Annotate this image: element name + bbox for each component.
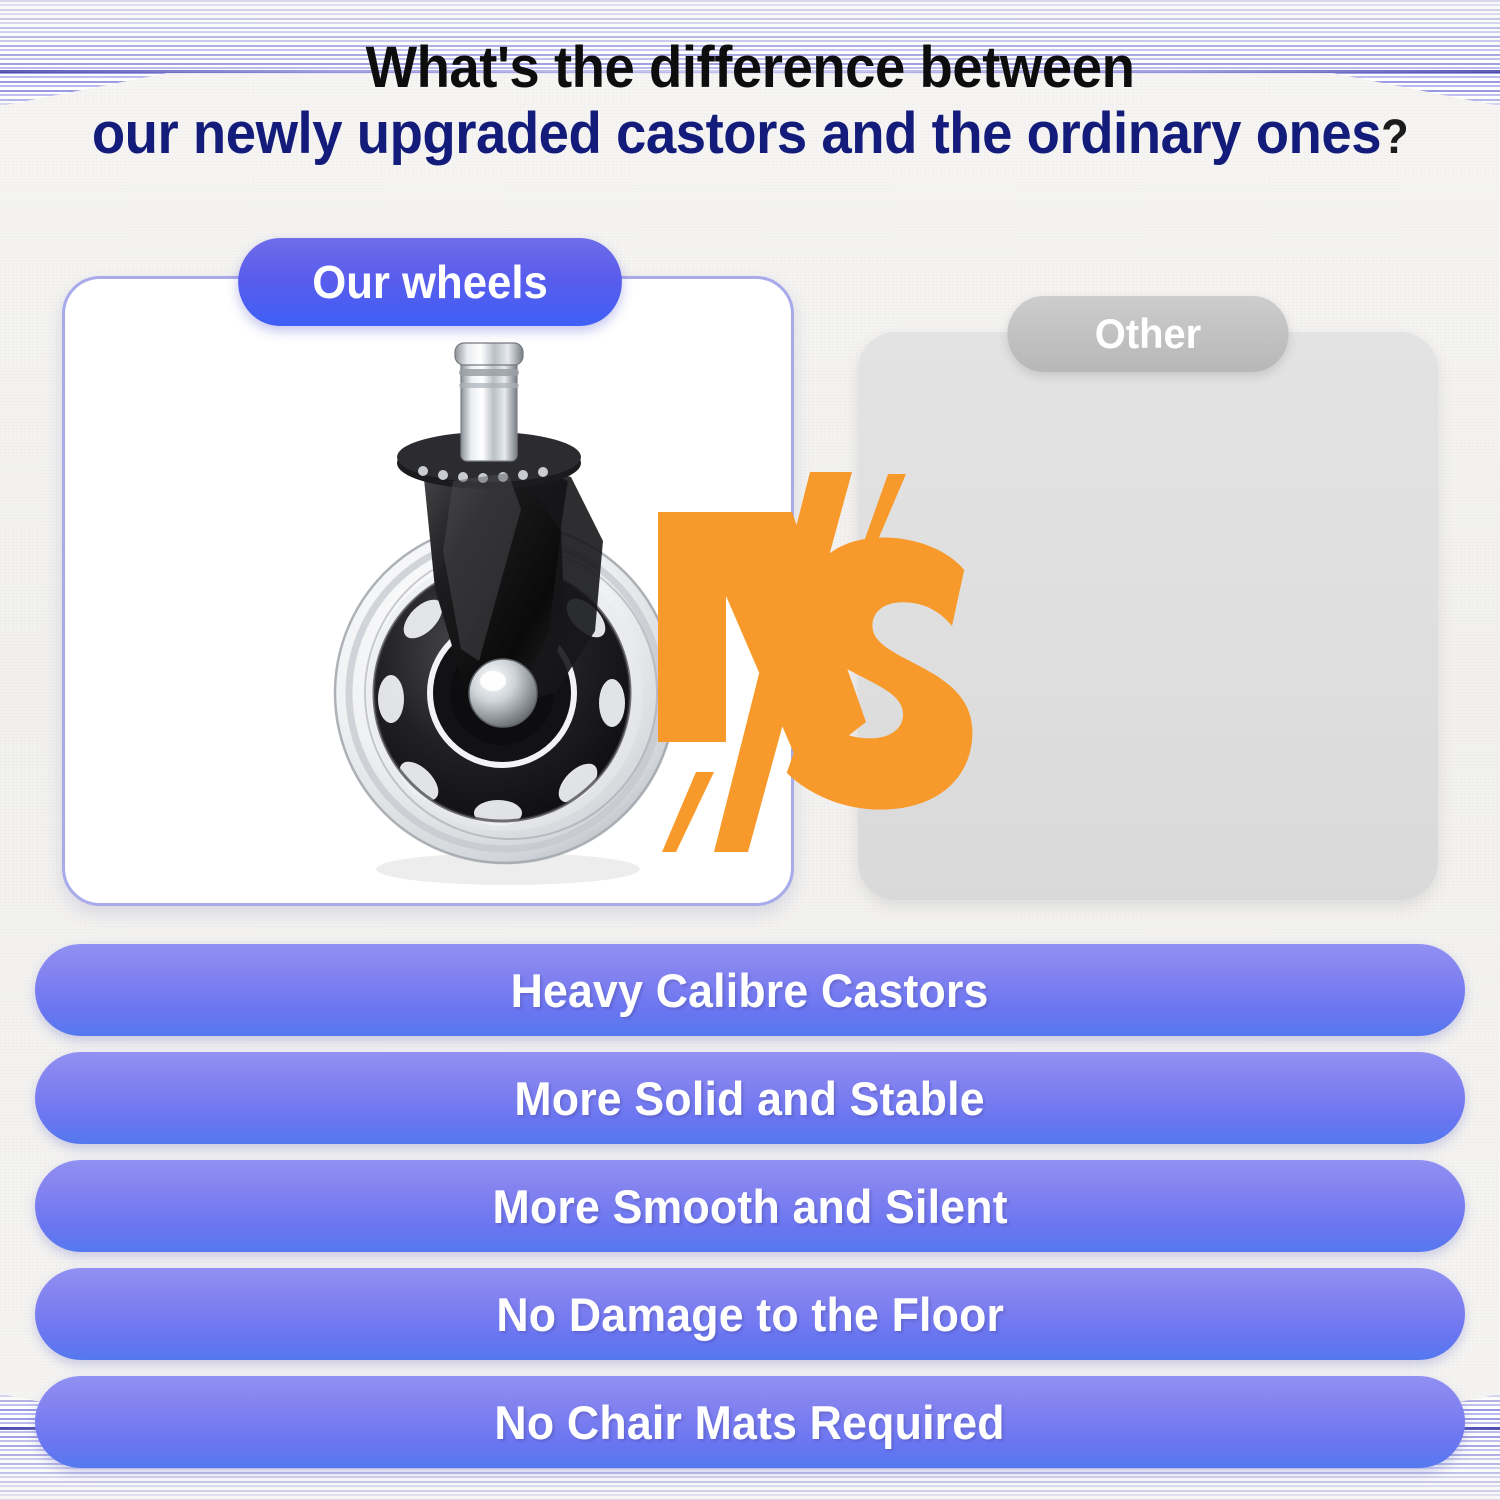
- title-question-mark: ?: [1381, 111, 1408, 164]
- feature-list: Heavy Calibre Castors More Solid and Sta…: [0, 944, 1500, 1484]
- feature-bar: Heavy Calibre Castors: [35, 944, 1465, 1036]
- feature-bar: No Chair Mats Required: [35, 1376, 1465, 1468]
- title-line-1: What's the difference between: [45, 38, 1455, 98]
- our-wheels-badge-label: Our wheels: [312, 255, 548, 309]
- feature-bar: No Damage to the Floor: [35, 1268, 1465, 1360]
- our-wheels-badge: Our wheels: [238, 238, 622, 326]
- feature-bar: More Smooth and Silent: [35, 1160, 1465, 1252]
- feature-label: No Chair Mats Required: [495, 1395, 1005, 1450]
- other-badge-label: Other: [1095, 310, 1201, 358]
- title-line-2-text: our newly upgraded castors and the ordin…: [92, 101, 1381, 166]
- page-title: What's the difference between our newly …: [0, 38, 1500, 165]
- feature-label: More Solid and Stable: [515, 1071, 985, 1126]
- rollerblade-caster-image: [303, 331, 703, 891]
- feature-label: More Smooth and Silent: [492, 1179, 1007, 1234]
- versus-icon: [652, 472, 982, 852]
- feature-bar: More Solid and Stable: [35, 1052, 1465, 1144]
- title-line-2: our newly upgraded castors and the ordin…: [45, 104, 1455, 164]
- comparison-section: Our wheels: [0, 276, 1500, 916]
- feature-label: No Damage to the Floor: [496, 1287, 1004, 1342]
- other-badge: Other: [1007, 296, 1288, 372]
- feature-label: Heavy Calibre Castors: [511, 963, 989, 1018]
